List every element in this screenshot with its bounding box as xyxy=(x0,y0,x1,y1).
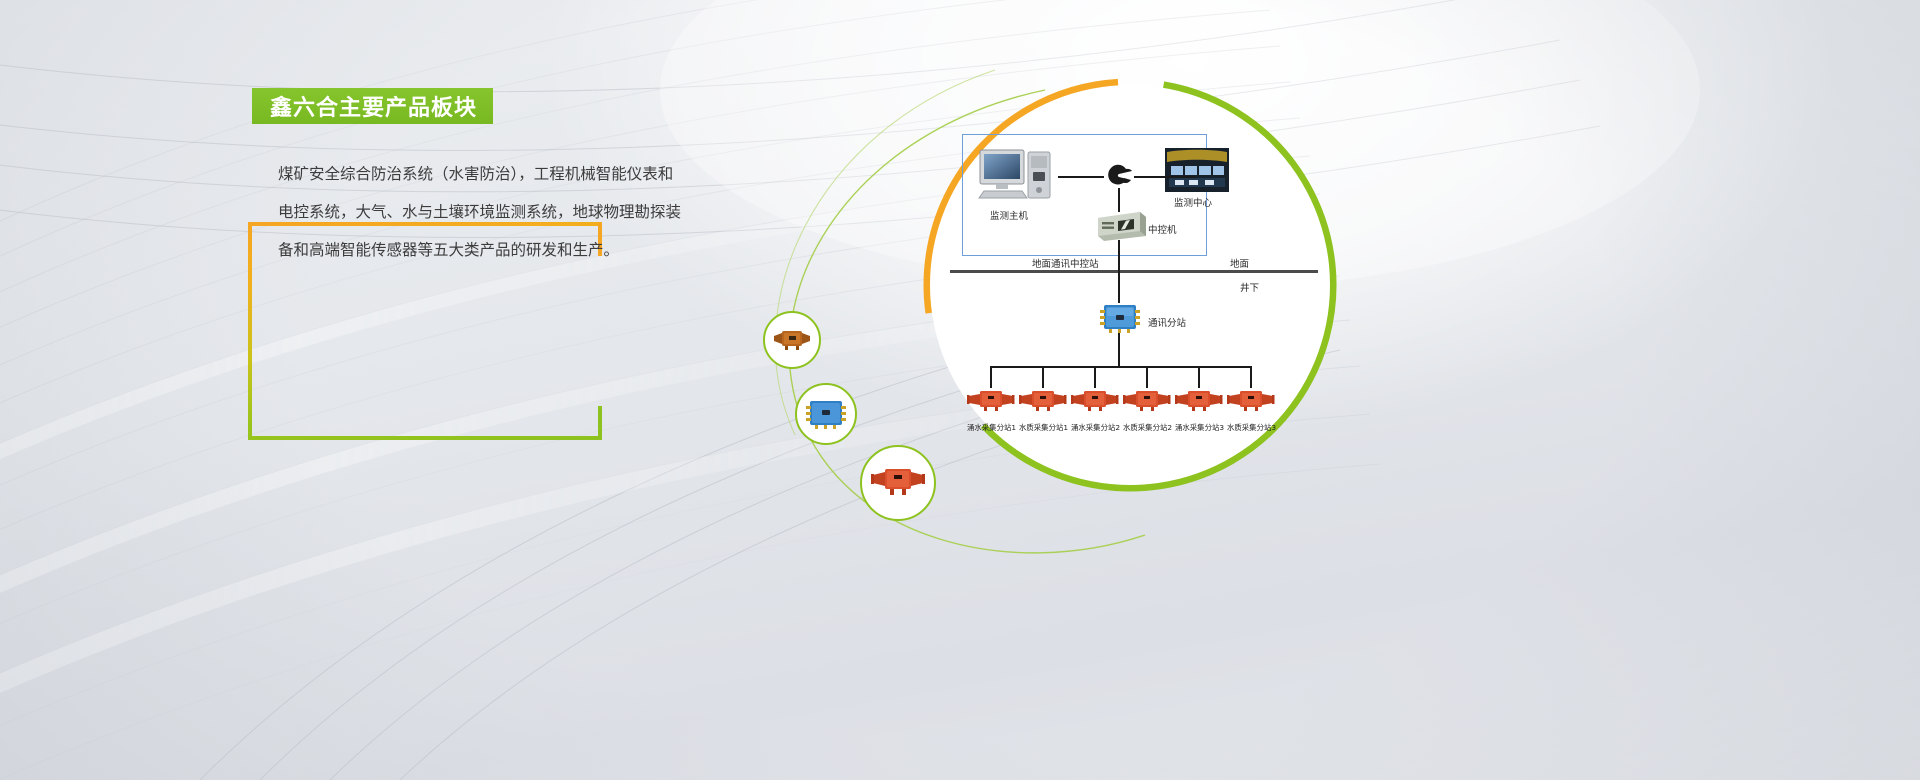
ground-divider-line xyxy=(950,270,1318,273)
collector-device[interactable]: 水质采集分站1 xyxy=(1019,387,1067,433)
thumbnail-red-collector[interactable] xyxy=(860,445,936,521)
system-diagram-graphic: 监测主机 xyxy=(745,35,1385,565)
description-line-1: 煤矿安全综合防治系统（水害防治），工程机械智能仪表和 xyxy=(278,155,708,193)
red-collector-icon xyxy=(870,463,926,503)
red-collector-icon xyxy=(967,387,1015,415)
collector-device[interactable]: 涌水采集分站2 xyxy=(1071,387,1119,433)
collector-device[interactable]: 水质采集分站2 xyxy=(1123,387,1171,433)
red-collector-icon xyxy=(1123,387,1171,415)
collector-device-label: 水质采集分站2 xyxy=(1123,422,1171,433)
label-monitor-center: 监测中心 xyxy=(1174,195,1212,209)
brown-device-icon xyxy=(772,327,812,353)
link-substation-to-bus xyxy=(1118,333,1120,367)
description-line-3: 备和高端智能传感器等五大类产品的研发和生产。 xyxy=(278,231,708,269)
description-line-2: 电控系统，大气、水与土壤环境监测系统，地球物理勘探装 xyxy=(278,193,708,231)
label-surface: 地面 xyxy=(1230,256,1249,270)
link-cloud-to-center xyxy=(1134,176,1196,178)
label-underground: 井下 xyxy=(1240,280,1259,294)
red-collector-icon xyxy=(1175,387,1223,415)
red-collector-icon xyxy=(1227,387,1275,415)
collector-device[interactable]: 水质采集分站3 xyxy=(1227,387,1275,433)
collector-device-label: 涌水采集分站2 xyxy=(1071,422,1119,433)
panel-title-banner: 鑫六合主要产品板块 xyxy=(252,88,493,124)
collector-device-label: 涌水采集分站3 xyxy=(1175,422,1223,433)
collector-device[interactable]: 涌水采集分站3 xyxy=(1175,387,1223,433)
collector-device-label: 水质采集分站1 xyxy=(1019,422,1067,433)
collector-device-label: 涌水采集分站1 xyxy=(967,422,1015,433)
monitor-host-icon xyxy=(978,146,1056,209)
monitoring-system-diagram: 监测主机 xyxy=(950,130,1320,460)
label-central-controller: 中控机 xyxy=(1148,222,1177,236)
monitor-center-icon xyxy=(1165,148,1229,197)
label-surface-station: 地面通讯中控站 xyxy=(1032,256,1099,270)
comm-substation-icon xyxy=(1098,302,1142,341)
collector-device-label: 水质采集分站3 xyxy=(1227,422,1275,433)
device-bus-bar xyxy=(990,366,1252,368)
blue-substation-icon xyxy=(803,397,849,431)
link-controller-to-ground xyxy=(1118,240,1120,274)
central-controller-icon xyxy=(1094,209,1148,248)
collector-device[interactable]: 涌水采集分站1 xyxy=(967,387,1015,433)
red-collector-icon xyxy=(1071,387,1119,415)
collector-device-row: 涌水采集分站1 水质采集分站1 xyxy=(950,373,1320,458)
page-title: 鑫六合主要产品板块 xyxy=(270,90,477,122)
link-host-to-cloud xyxy=(1058,176,1104,178)
thumbnail-blue-substation[interactable] xyxy=(795,383,857,445)
link-ground-to-substation xyxy=(1118,273,1120,303)
red-collector-icon xyxy=(1019,387,1067,415)
label-comm-substation: 通讯分站 xyxy=(1148,315,1186,329)
thumbnail-brown-device[interactable] xyxy=(763,311,821,369)
link-cloud-to-controller xyxy=(1118,188,1120,212)
panel-description: 煤矿安全综合防治系统（水害防治），工程机械智能仪表和 电控系统，大气、水与土壤环… xyxy=(278,155,708,269)
label-monitor-host: 监测主机 xyxy=(990,208,1028,222)
